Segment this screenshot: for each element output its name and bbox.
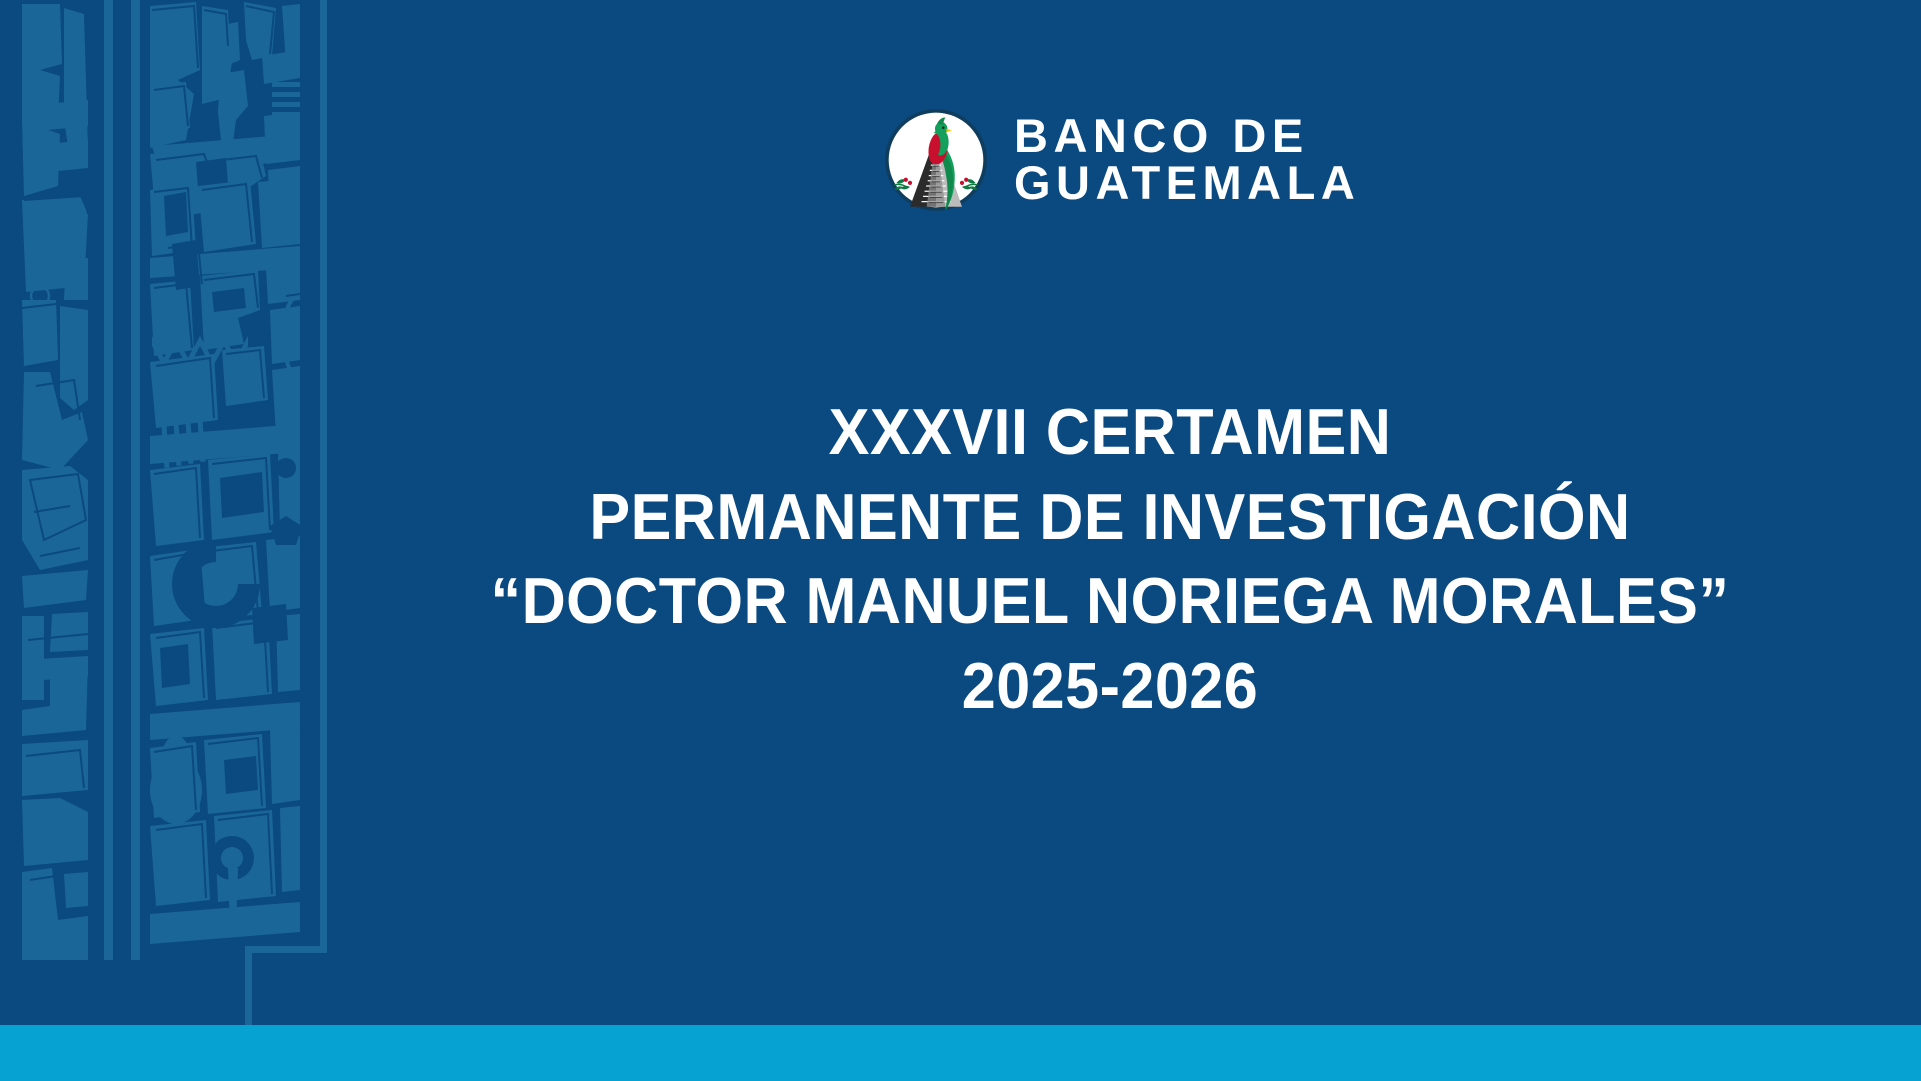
mayan-glyph-column-pattern — [0, 0, 340, 1081]
logo-wordmark: BANCO DE GUATEMALA — [1014, 113, 1360, 206]
wordmark-line-1: BANCO DE — [1014, 113, 1360, 160]
title-line-4: 2025-2026 — [377, 644, 1843, 729]
slide-canvas: BANCO DE GUATEMALA XXXVII CERTAMEN PERMA… — [0, 0, 1921, 1081]
glyph-column-wide — [150, 2, 302, 944]
title-line-3: “DOCTOR MANUEL NORIEGA MORALES” — [377, 559, 1843, 644]
l-shaped-frame-line — [245, 0, 327, 1025]
quetzal-eye — [942, 127, 944, 129]
title-line-1: XXXVII CERTAMEN — [377, 390, 1843, 475]
glyph-column-narrow-outlines — [22, 196, 88, 918]
divider-line-1 — [104, 0, 113, 960]
cyan-accent-bar — [0, 1025, 1921, 1081]
quetzal-pyramid-emblem-icon — [884, 108, 988, 212]
page-title: XXXVII CERTAMEN PERMANENTE DE INVESTIGAC… — [330, 390, 1890, 728]
banco-de-guatemala-logo: BANCO DE GUATEMALA — [884, 108, 1360, 212]
wordmark-line-2: GUATEMALA — [1014, 160, 1360, 207]
glyph-column-narrow — [22, 4, 88, 960]
title-line-2: PERMANENTE DE INVESTIGACIÓN — [377, 475, 1843, 560]
divider-line-2 — [131, 0, 140, 960]
glyph-column-wide-outlines — [152, 6, 300, 898]
